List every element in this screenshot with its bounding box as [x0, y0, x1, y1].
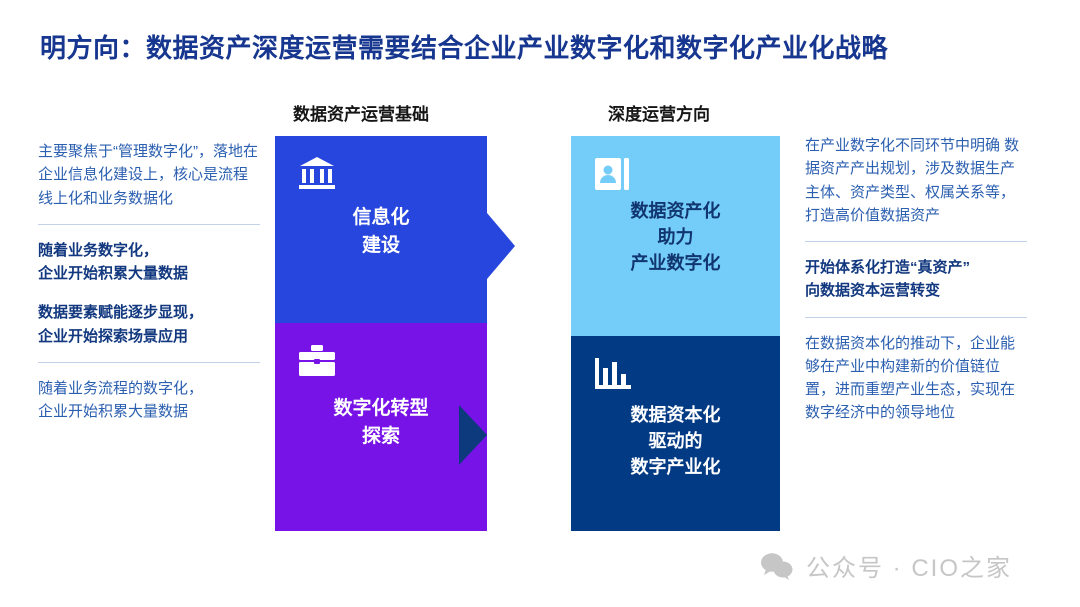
page-title: 明方向：数据资产深度运营需要结合企业产业数字化和数字化产业化战略 — [40, 28, 888, 65]
flow-box-label: 信息化 建设 — [275, 204, 487, 259]
left-paragraph-4: 随着业务流程的数字化， 企业开始积累大量数据 — [38, 377, 260, 424]
arrow-left-notch-icon — [459, 405, 487, 465]
left-divider-1 — [38, 224, 260, 225]
column-header-base: 数据资产运营基础 — [293, 100, 429, 125]
briefcase-icon — [297, 341, 337, 381]
flow-box-digital-transformation[interactable]: 数字化转型 探索 — [275, 323, 487, 531]
left-paragraph-3: 数据要素赋能逐步显现， 企业开始探索场景应用 — [38, 301, 260, 348]
right-paragraph-1: 在产业数字化不同环节中明确 数据资产产出规划，涉及数据生产主体、资产类型、权属关… — [805, 134, 1027, 227]
left-text-column: 主要聚焦于“管理数字化”，落地在企业信息化建设上，核心是流程线上化和业务数据化 … — [38, 140, 260, 423]
left-paragraph-1: 主要聚焦于“管理数字化”，落地在企业信息化建设上，核心是流程线上化和业务数据化 — [38, 140, 260, 210]
left-divider-2 — [38, 362, 260, 363]
right-paragraph-2: 开始体系化打造“真资产” 向数据资本运营转变 — [805, 256, 1027, 303]
right-text-column: 在产业数字化不同环节中明确 数据资产产出规划，涉及数据生产主体、资产类型、权属关… — [805, 134, 1027, 425]
column-header-deep: 深度运营方向 — [608, 100, 710, 125]
flow-box-data-assetization[interactable]: 数据资产化 助力 产业数字化 — [571, 136, 780, 336]
right-divider-2 — [805, 317, 1027, 318]
flow-box-label: 数字化转型 探索 — [275, 395, 487, 450]
flow-box-label: 数据资产化 助力 产业数字化 — [571, 198, 780, 276]
bar-chart-icon — [593, 354, 633, 394]
flow-box-data-capitalization[interactable]: 数据资本化 驱动的 数字产业化 — [571, 336, 780, 531]
watermark-text: 公众号 · CIO之家 — [806, 548, 1012, 583]
id-card-icon — [593, 154, 633, 194]
flow-box-label: 数据资本化 驱动的 数字产业化 — [571, 402, 780, 480]
left-spacer-1 — [38, 285, 260, 301]
flow-box-information-construction[interactable]: 信息化 建设 — [275, 136, 487, 323]
right-paragraph-3: 在数据资本化的推动下，企业能够在产业中构建新的价值链位置，进而重塑产业生态，实现… — [805, 332, 1027, 425]
left-paragraph-2: 随着业务数字化， 企业开始积累大量数据 — [38, 239, 260, 286]
right-divider-1 — [805, 241, 1027, 242]
wechat-icon — [760, 551, 794, 581]
bank-icon — [297, 154, 337, 194]
arrow-right-icon — [487, 213, 515, 279]
watermark: 公众号 · CIO之家 — [760, 548, 1012, 583]
